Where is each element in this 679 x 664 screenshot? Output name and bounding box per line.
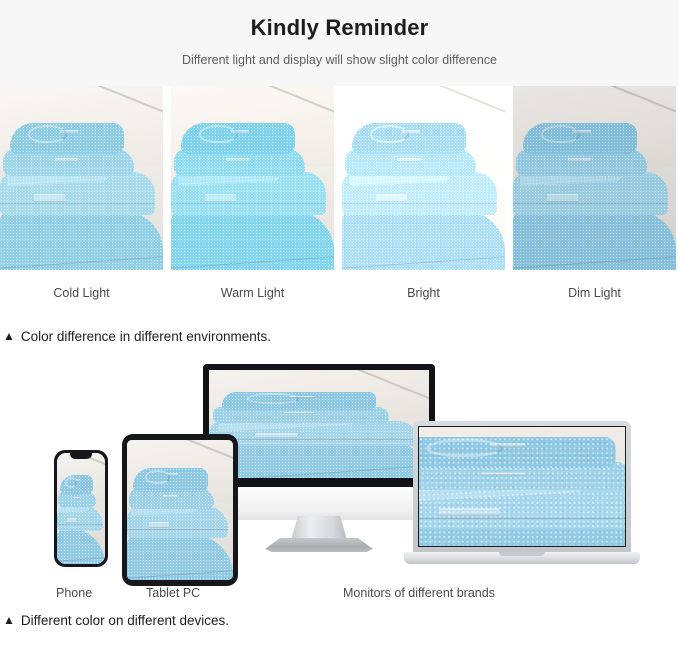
towel-photo [342, 86, 505, 270]
towel-bottom [209, 443, 429, 478]
page-subtitle: Different light and display will show sl… [0, 52, 679, 68]
light-panel-warm-light [171, 86, 334, 270]
towel-rolled [10, 123, 124, 154]
light-panel-cold-light [0, 86, 163, 270]
phone-screen [57, 453, 105, 564]
laptop-screen [418, 426, 626, 547]
page-title: Kindly Reminder [0, 13, 679, 43]
laptop-trackpad-notch [499, 552, 545, 556]
device-label-monitors: Monitors of different brands [343, 585, 495, 601]
device-label-tablet: Tablet PC [146, 585, 200, 601]
monitor-stand-base [265, 538, 373, 552]
towel-photo [513, 86, 676, 270]
towel-photo [0, 86, 163, 270]
towel-photo [57, 453, 105, 564]
towel-rolled [133, 468, 207, 492]
caret-up-icon: ▲ [3, 614, 15, 626]
laptop-base [404, 552, 640, 564]
panel-caption-cold-light: Cold Light [0, 285, 163, 301]
monitor-stand-neck [291, 516, 347, 540]
note-text: Different color on different devices. [21, 613, 229, 628]
towel-photo [171, 86, 334, 270]
phone-notch [70, 453, 92, 459]
panel-caption-dim-light: Dim Light [513, 285, 676, 301]
note-color-difference-environments: ▲ Color difference in different environm… [0, 329, 679, 344]
light-panel-bright [342, 86, 505, 270]
device-label-phone: Phone [56, 585, 92, 601]
light-panel-dim-light [513, 86, 676, 270]
towel-photo [418, 426, 626, 547]
note-color-difference-devices: ▲ Different color on different devices. [0, 613, 679, 628]
device-phone [54, 450, 108, 567]
device-tablet [122, 434, 238, 586]
devices-illustration [0, 358, 679, 583]
light-condition-panels [0, 86, 679, 270]
monitor-screen [209, 370, 429, 478]
towel-rolled [418, 437, 615, 468]
note-text: Color difference in different environmen… [21, 329, 271, 344]
towel-rolled [523, 123, 637, 154]
towel-bottom [342, 211, 505, 270]
panel-caption-warm-light: Warm Light [171, 285, 334, 301]
towel-bottom [0, 211, 163, 270]
laptop-lid [413, 421, 631, 554]
reminder-header: Kindly Reminder Different light and disp… [0, 0, 679, 86]
tablet-screen [127, 440, 233, 580]
towel-rolled [352, 123, 466, 154]
towel-rolled [222, 392, 376, 410]
towel-photo [127, 440, 233, 580]
towel-rolled [60, 475, 94, 494]
towel-photo [209, 370, 429, 478]
light-panel-captions: Cold Light Warm Light Bright Dim Light [0, 270, 679, 301]
towel-bottom [171, 211, 334, 270]
caret-up-icon: ▲ [3, 330, 15, 342]
panel-caption-bright: Bright [342, 285, 505, 301]
device-labels-row: Phone Tablet PC Monitors of different br… [0, 585, 679, 605]
device-laptop [404, 421, 640, 566]
towel-bottom [513, 211, 676, 270]
towel-rolled [181, 123, 295, 154]
